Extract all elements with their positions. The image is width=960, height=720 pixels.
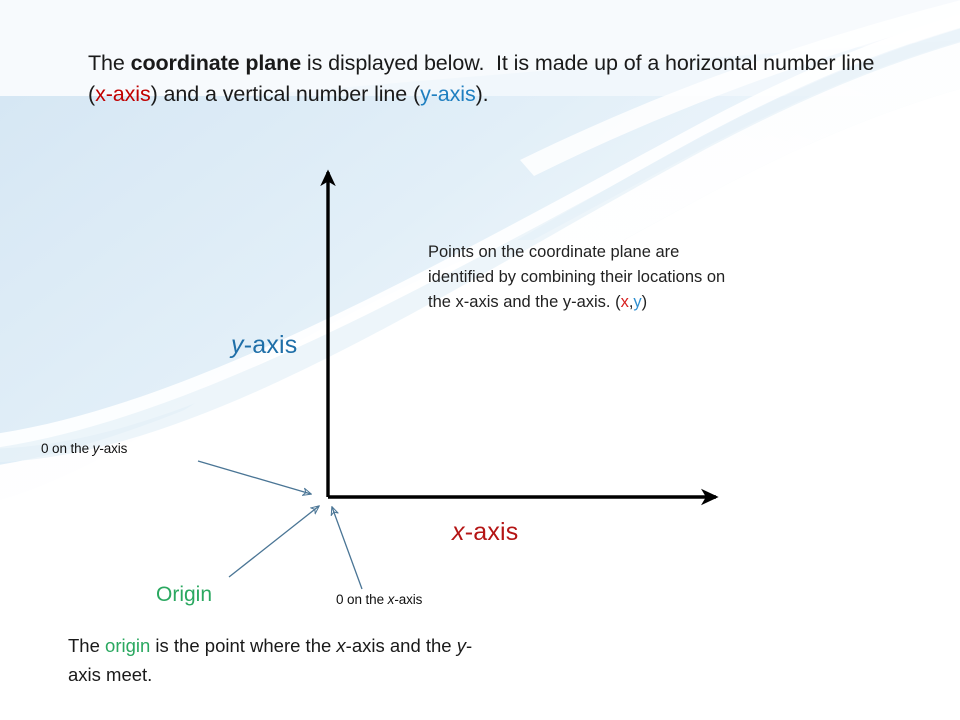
y-axis-label-variable: y [231, 331, 244, 359]
points-paragraph: Points on the coordinate plane areidenti… [428, 240, 828, 315]
points-y-variable: y [633, 293, 641, 311]
slide-canvas: The coordinate plane is displayed below.… [0, 0, 960, 720]
intro-y-axis-term: y-axis [420, 82, 476, 106]
callout-zero-y-prefix: 0 on the [41, 441, 93, 456]
bottom-origin-term: origin [105, 635, 150, 656]
points-x-variable: x [621, 293, 629, 311]
bottom-part2: is the point where the [150, 635, 336, 656]
background-top-wash [0, 0, 960, 240]
intro-part4: ). [476, 82, 489, 106]
x-axis-label-variable: x [452, 518, 465, 546]
origin-definition-paragraph: The origin is the point where the x-axis… [68, 631, 498, 689]
bottom-x-variable: x [336, 635, 345, 656]
intro-part1: The [88, 51, 131, 75]
intro-x-axis-term: x-axis [95, 82, 151, 106]
callout-zero-x-suffix: -axis [394, 592, 422, 607]
callout-zero-on-y-axis: 0 on the y-axis [41, 441, 127, 456]
callout-zero-x-prefix: 0 on the [336, 592, 388, 607]
callout-origin-label: Origin [156, 583, 212, 607]
points-line1: Points on the coordinate plane are [428, 243, 679, 261]
y-axis-label-suffix: -axis [244, 331, 298, 359]
background-lower-white [0, 78, 960, 720]
y-axis-label: y-axis [231, 331, 298, 360]
points-close-paren: ) [642, 293, 648, 311]
points-line2: identified by combining their locations … [428, 268, 725, 286]
intro-paragraph: The coordinate plane is displayed below.… [88, 48, 888, 110]
points-line3: the x-axis and the y-axis. ( [428, 293, 621, 311]
intro-part3: ) and a vertical number line ( [151, 82, 420, 106]
bottom-part3: -axis and the [346, 635, 457, 656]
callout-zero-on-x-axis: 0 on the x-axis [336, 592, 422, 607]
x-axis-label-suffix: -axis [465, 518, 519, 546]
pointer-arrow-zero-on-x-axis [332, 507, 362, 589]
pointer-arrow-origin [229, 506, 319, 577]
x-axis-label: x-axis [452, 518, 519, 547]
pointer-arrow-zero-on-y-axis [198, 461, 311, 494]
bottom-y-variable: y [457, 635, 466, 656]
intro-bold-term: coordinate plane [131, 51, 301, 75]
callout-zero-y-suffix: -axis [99, 441, 127, 456]
bottom-part1: The [68, 635, 105, 656]
